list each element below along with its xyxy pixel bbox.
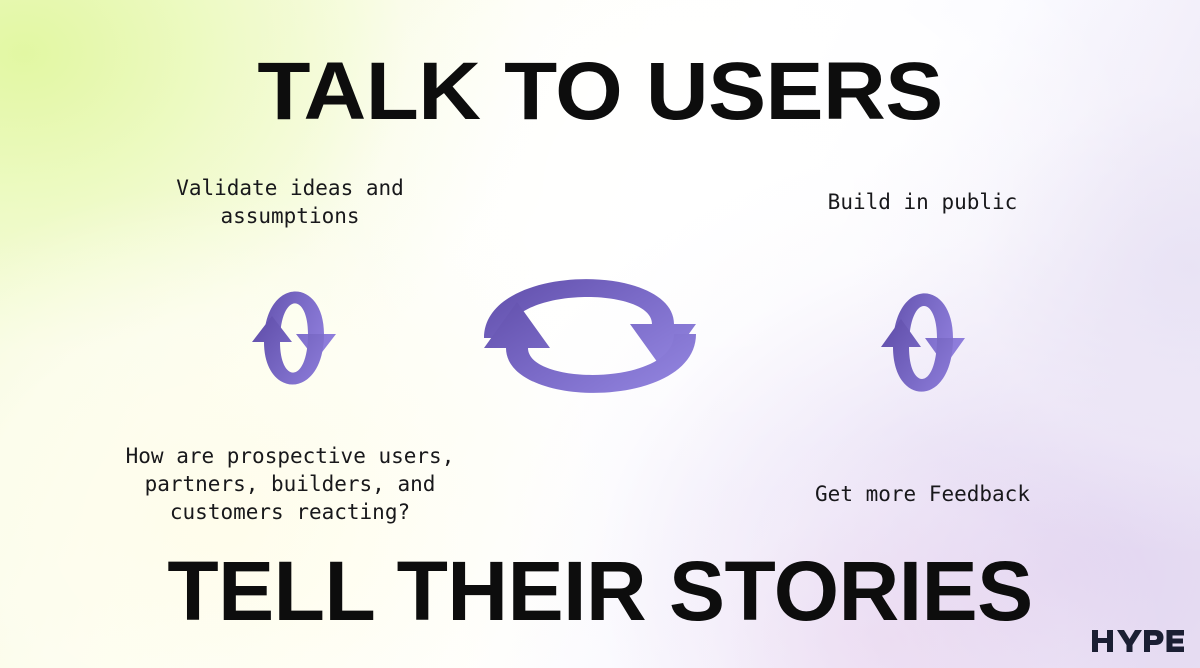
cycle-loop-icon-center [470, 246, 710, 426]
hype-logo [1090, 624, 1186, 658]
cycle-loop-icon-right [873, 248, 973, 438]
caption-get-more-feedback: Get more Feedback [755, 480, 1090, 508]
headline-top: TALK TO USERS [0, 51, 1200, 133]
caption-build-in-public: Build in public [760, 188, 1085, 216]
caption-how-are-prospective-users: How are prospective users, partners, bui… [70, 442, 510, 526]
cycle-loop-icon-left [244, 248, 344, 428]
caption-validate-ideas: Validate ideas and assumptions [95, 174, 485, 230]
headline-bottom: TELL THEIR STORIES [0, 549, 1200, 633]
slide-canvas: TALK TO USERS Validate ideas and assumpt… [0, 0, 1200, 668]
